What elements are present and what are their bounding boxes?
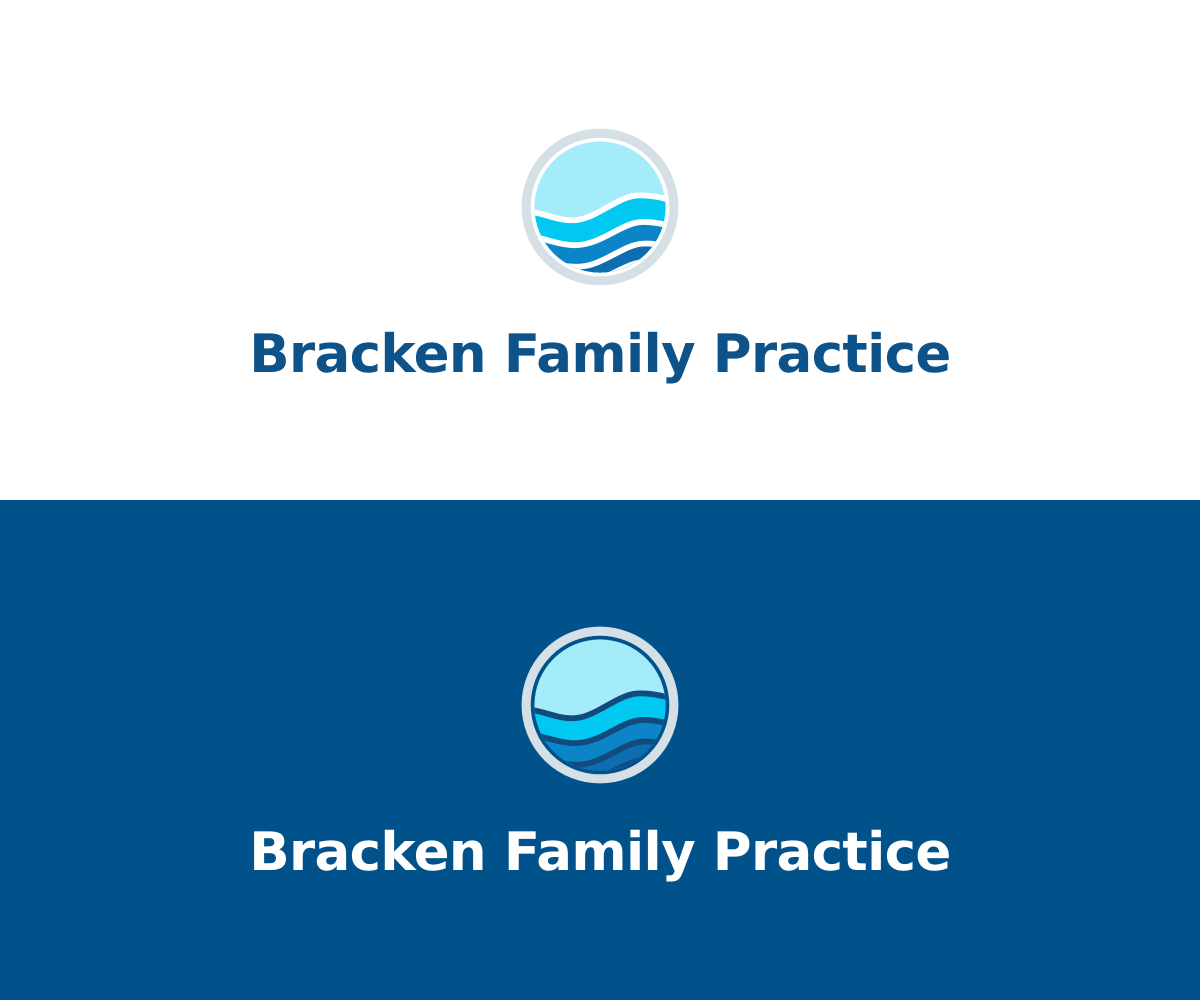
logo-lockup-light: Bracken Family Practice [249, 120, 951, 381]
wave-circle-logo-icon [517, 124, 683, 290]
logo-presentation: Bracken Family Practice [0, 0, 1200, 1000]
light-variant-panel: Bracken Family Practice [0, 0, 1200, 500]
logo-inner-disc [517, 622, 683, 788]
dark-variant-panel: Bracken Family Practice [0, 500, 1200, 1000]
logo-inner-disc [517, 124, 683, 290]
wordmark-dark: Bracken Family Practice [249, 826, 951, 879]
wordmark-light: Bracken Family Practice [249, 328, 951, 381]
logo-lockup-dark: Bracken Family Practice [249, 622, 951, 879]
wave-circle-logo-icon-reversed [517, 622, 683, 788]
